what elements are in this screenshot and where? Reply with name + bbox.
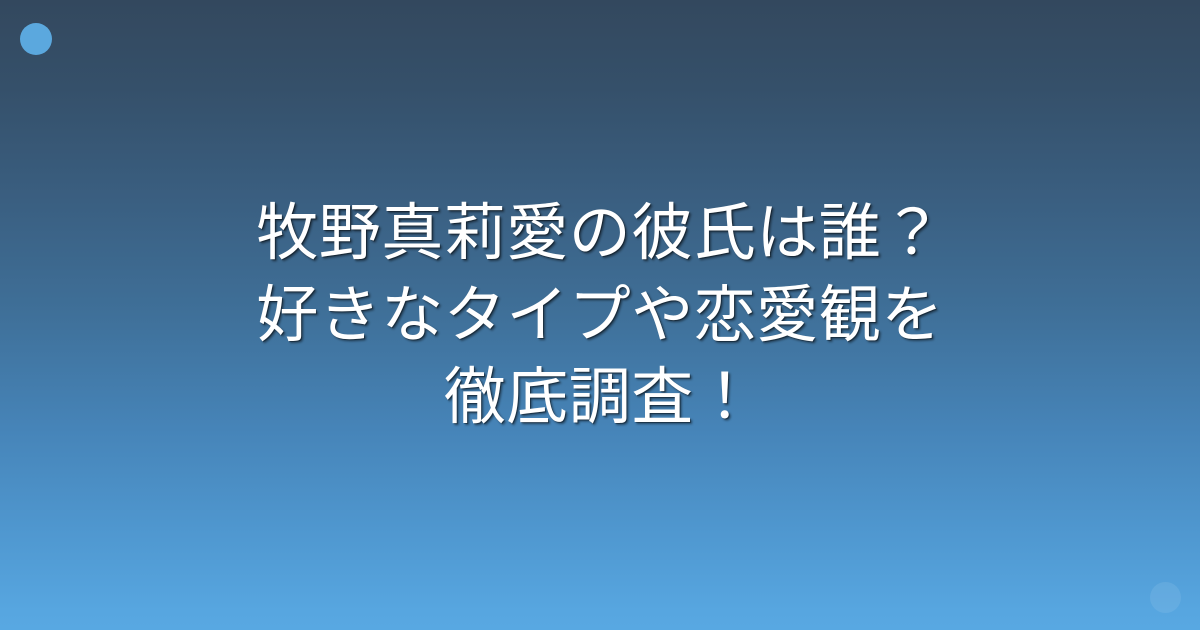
ogp-card: 牧野真莉愛の彼氏は誰？ 好きなタイプや恋愛観を 徹底調査！: [0, 0, 1200, 630]
title-container: 牧野真莉愛の彼氏は誰？ 好きなタイプや恋愛観を 徹底調査！: [0, 0, 1200, 630]
page-title: 牧野真莉愛の彼氏は誰？ 好きなタイプや恋愛観を 徹底調査！: [100, 192, 1100, 437]
